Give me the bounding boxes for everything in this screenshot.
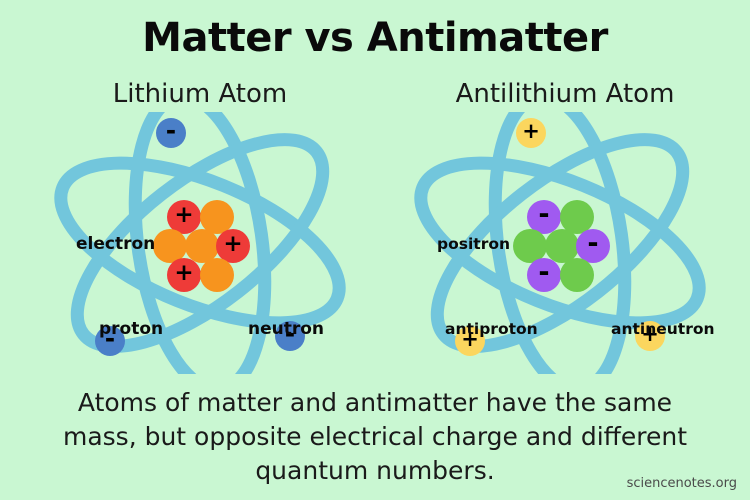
label-neutron: neutron [248,319,324,339]
label-positron: positron [437,234,510,254]
electron-particle-top: - [156,118,186,148]
label-antineutron: antineutron [611,319,715,339]
nucleus-neutron-particle [200,258,234,292]
label-antiproton: antiproton [445,319,538,339]
nucleus-matter: + + + [153,200,249,292]
infographic-canvas: Matter vs Antimatter Lithium Atom Antili… [0,0,750,500]
label-proton: proton [99,319,163,339]
source-watermark: sciencenotes.org [627,476,737,491]
label-electron: electron [76,234,155,254]
page-title: Matter vs Antimatter [0,14,750,62]
nucleus-antimatter: - - - [513,200,609,292]
antilithium-atom-diagram: - - - + + + positron antiproton antineut… [395,112,725,374]
atom-heading-antimatter: Antilithium Atom [400,78,730,110]
atom-heading-matter: Lithium Atom [40,78,360,110]
positron-particle-top: + [516,118,546,148]
nucleus-antiproton-particle: - [527,258,561,292]
caption-text: Atoms of matter and antimatter have the … [55,386,695,488]
nucleus-antineutron-particle [560,258,594,292]
nucleus-proton-particle: + [167,258,201,292]
lithium-atom-diagram: + + + - - - electron proton neutron [35,112,365,374]
